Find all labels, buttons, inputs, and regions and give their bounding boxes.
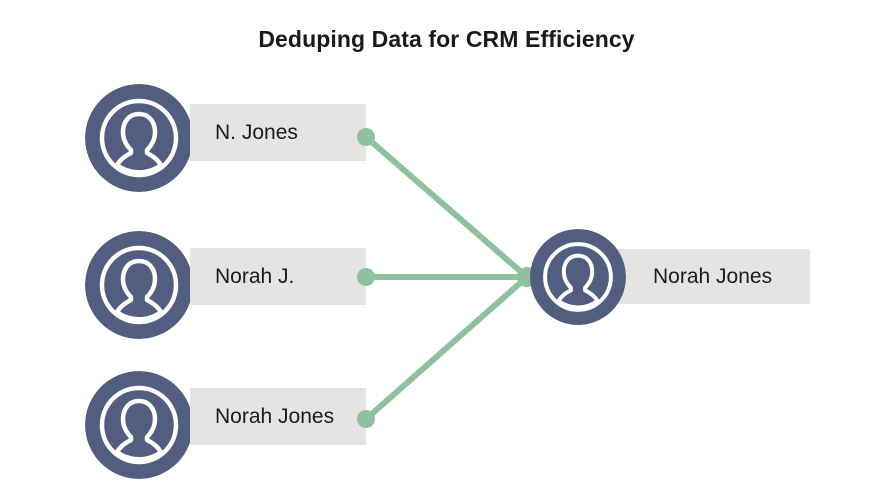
target-label-box[interactable]: Norah Jones bbox=[608, 249, 810, 304]
edge-src1-target bbox=[366, 137, 527, 277]
connector-dot-source-2 bbox=[357, 268, 375, 286]
source-label-3: Norah Jones bbox=[215, 405, 334, 429]
source-label-box-3[interactable]: Norah Jones bbox=[190, 388, 366, 445]
connector-dot-source-1 bbox=[357, 128, 375, 146]
diagram-canvas: Deduping Data for CRM Efficiency N. Jone… bbox=[0, 0, 893, 500]
connector-dot-source-3 bbox=[357, 410, 375, 428]
source-label-box-1[interactable]: N. Jones bbox=[190, 104, 366, 161]
source-label-box-2[interactable]: Norah J. bbox=[190, 248, 366, 305]
user-avatar-icon bbox=[85, 231, 193, 339]
edge-src3-target bbox=[366, 277, 527, 419]
user-avatar-icon bbox=[85, 371, 193, 479]
user-avatar-icon bbox=[530, 229, 626, 325]
user-avatar-icon bbox=[85, 84, 193, 192]
source-label-1: N. Jones bbox=[215, 121, 298, 145]
target-label: Norah Jones bbox=[653, 265, 772, 289]
source-label-2: Norah J. bbox=[215, 265, 294, 289]
